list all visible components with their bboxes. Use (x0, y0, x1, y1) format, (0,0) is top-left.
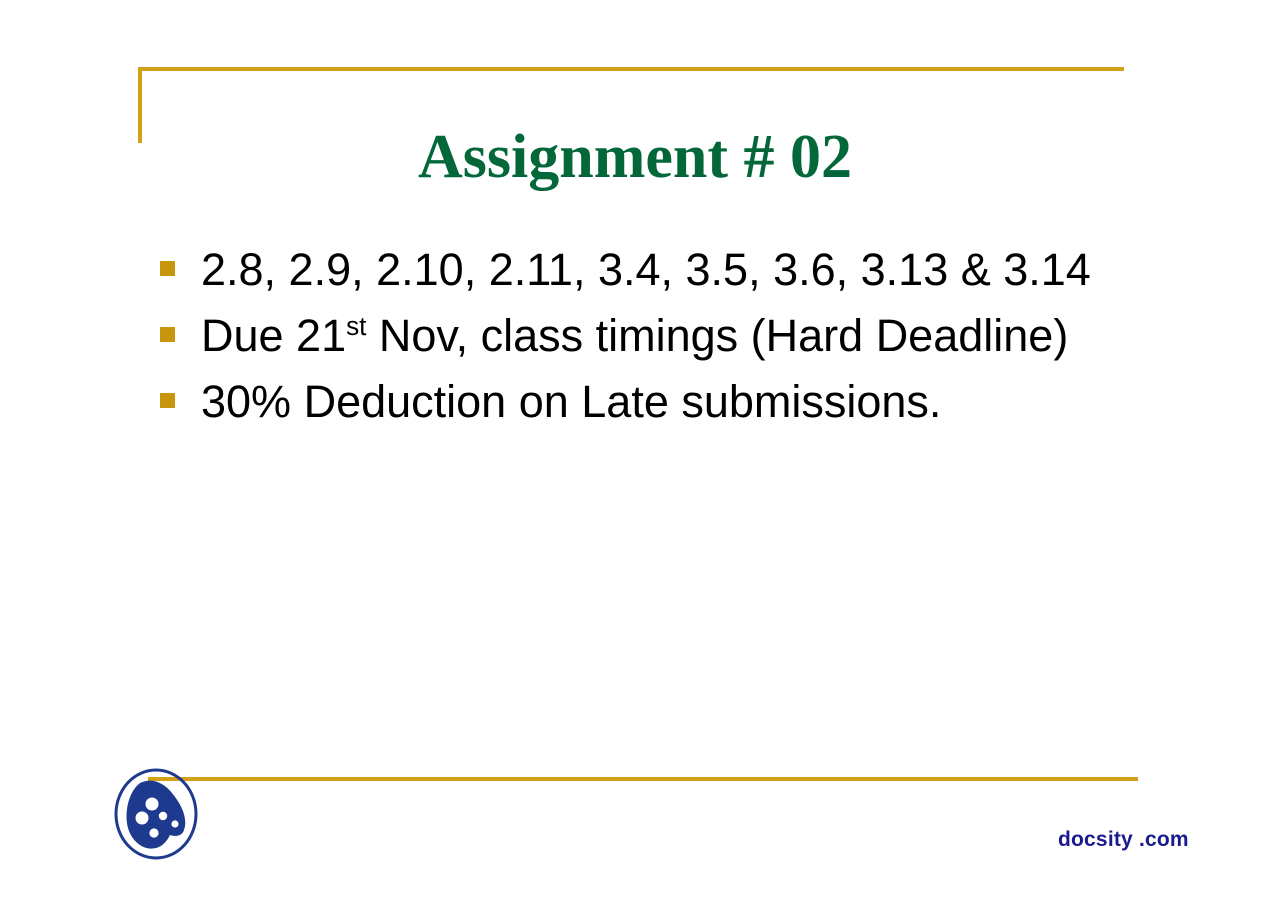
title-rule-top (138, 67, 1124, 71)
footer-rule (148, 777, 1138, 781)
slide-canvas: Assignment # 02 2.8, 2.9, 2.10, 2.11, 3.… (0, 0, 1280, 905)
bullet-text-problem-list: 2.8, 2.9, 2.10, 2.11, 3.4, 3.5, 3.6, 3.1… (201, 238, 1091, 302)
list-item: Due 21st Nov, class timings (Hard Deadli… (160, 304, 1200, 370)
due-date-remainder: Nov, class timings (Hard Deadline) (366, 310, 1068, 361)
square-bullet-icon (160, 327, 175, 342)
bullet-text-due-date: Due 21st Nov, class timings (Hard Deadli… (201, 304, 1068, 368)
page-title: Assignment # 02 (142, 122, 1128, 192)
list-item: 30% Deduction on Late submissions. (160, 370, 1200, 436)
due-date-ordinal-suffix: st (346, 311, 366, 341)
due-date-prefix: Due 21 (201, 310, 346, 361)
footer-brand-label: docsity .com (1058, 828, 1189, 852)
bullet-list: 2.8, 2.9, 2.10, 2.11, 3.4, 3.5, 3.6, 3.1… (160, 238, 1200, 436)
bullet-text-late-penalty: 30% Deduction on Late submissions. (201, 370, 941, 434)
square-bullet-icon (160, 261, 175, 276)
docsity-logo-icon (112, 766, 200, 862)
square-bullet-icon (160, 393, 175, 408)
list-item: 2.8, 2.9, 2.10, 2.11, 3.4, 3.5, 3.6, 3.1… (160, 238, 1200, 304)
